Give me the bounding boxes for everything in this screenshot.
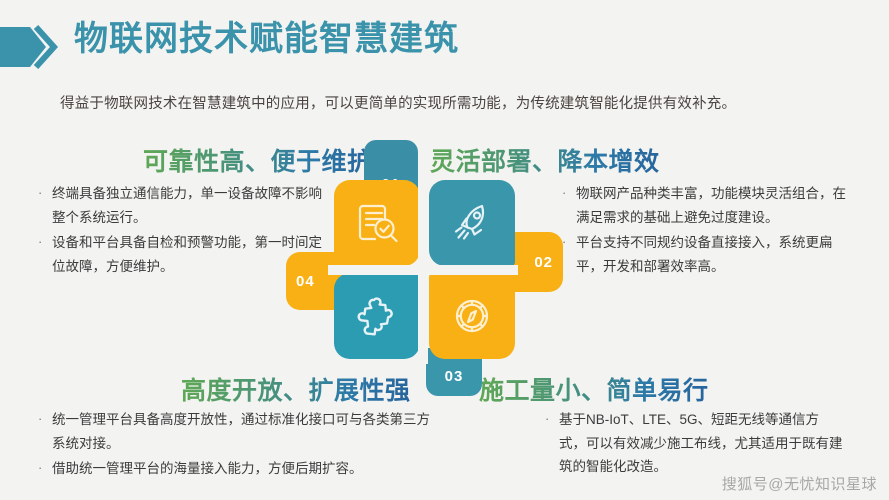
quadrant-number-03: 03 [445, 368, 464, 385]
slide-canvas: 物联网技术赋能智慧建筑 得益于物联网技术在智慧建筑中的应用，可以更简单的实现所需… [0, 0, 889, 500]
page-subtitle: 得益于物联网技术在智慧建筑中的应用，可以更简单的实现所需功能，为传统建筑智能化提… [60, 92, 736, 113]
quadrant-number-02: 02 [534, 254, 553, 271]
list-item: · 平台支持不同规约设备直接接入，系统更扁平，开发和部署效率高。 [562, 231, 857, 278]
bullet-dot-icon: · [38, 182, 52, 205]
list-item: · 基于NB-IoT、LTE、5G、短距无线等通信方式，可以有效减少施工布线，尤… [545, 408, 845, 479]
list-item: · 物联网产品种类丰富，功能模块灵活组合，在满足需求的基础上避免过度建设。 [562, 182, 857, 229]
chevron-right-arrow-icon [0, 24, 62, 70]
bullet-dot-icon: · [38, 408, 52, 431]
document-search-icon [354, 200, 400, 246]
list-item-text: 物联网产品种类丰富，功能模块灵活组合，在满足需求的基础上避免过度建设。 [576, 182, 857, 229]
rocket-icon [449, 200, 495, 246]
page-title: 物联网技术赋能智慧建筑 [74, 18, 459, 61]
list-item-text: 平台支持不同规约设备直接接入，系统更扁平，开发和部署效率高。 [576, 231, 857, 278]
puzzle-piece-icon [354, 293, 400, 339]
cluster-divider-horizontal [328, 265, 518, 275]
quadrant-bullets-02: · 物联网产品种类丰富，功能模块灵活组合，在满足需求的基础上避免过度建设。 · … [562, 182, 857, 281]
bullet-dot-icon: · [38, 231, 52, 254]
tile-03[interactable] [429, 273, 515, 359]
list-item-text: 统一管理平台具备高度开放性，通过标准化接口可与各类第三方系统对接。 [52, 408, 438, 455]
list-item-text: 借助统一管理平台的海量接入能力，方便后期扩容。 [52, 457, 438, 481]
watermark: 搜狐号@无忧知识星球 [722, 473, 877, 494]
tile-04[interactable] [334, 273, 420, 359]
list-item: · 统一管理平台具备高度开放性，通过标准化接口可与各类第三方系统对接。 [38, 408, 438, 455]
tile-01[interactable] [334, 180, 420, 266]
icon-cluster: 01 02 03 04 [278, 140, 573, 395]
quadrant-number-04: 04 [296, 273, 315, 290]
tile-02[interactable] [429, 180, 515, 266]
slide-header: 物联网技术赋能智慧建筑 得益于物联网技术在智慧建筑中的应用，可以更简单的实现所需… [0, 12, 889, 122]
list-item-text: 基于NB-IoT、LTE、5G、短距无线等通信方式，可以有效减少施工布线，尤其适… [559, 408, 845, 479]
quadrant-bullets-03: · 基于NB-IoT、LTE、5G、短距无线等通信方式，可以有效减少施工布线，尤… [545, 408, 845, 481]
bullet-dot-icon: · [38, 457, 52, 480]
bullet-dot-icon: · [545, 408, 559, 431]
quadrant-bullets-04: · 统一管理平台具备高度开放性，通过标准化接口可与各类第三方系统对接。 · 借助… [38, 408, 438, 483]
compass-icon [449, 293, 495, 339]
list-item: · 借助统一管理平台的海量接入能力，方便后期扩容。 [38, 457, 438, 481]
